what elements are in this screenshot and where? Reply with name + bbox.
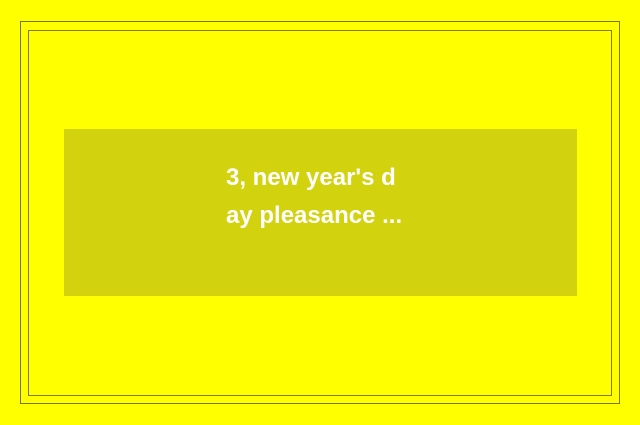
caption-line-2: ay pleasance ... xyxy=(226,197,566,235)
caption-line-1: 3, new year's d xyxy=(226,159,566,197)
page-canvas: 3, new year's d ay pleasance ... xyxy=(0,0,640,425)
caption-block: 3, new year's d ay pleasance ... xyxy=(226,159,566,235)
content-panel: 3, new year's d ay pleasance ... xyxy=(64,129,577,296)
